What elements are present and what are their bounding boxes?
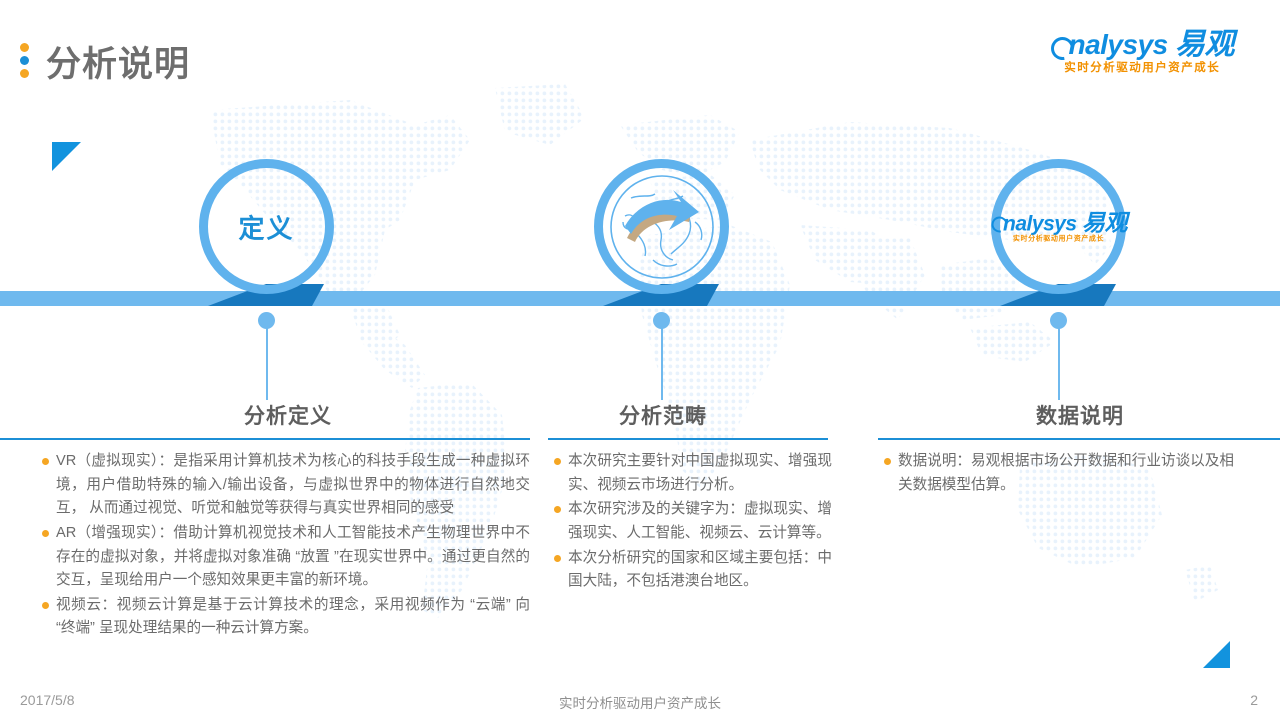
brand-tagline-inner: 实时分析驱动用户资产成长 [990,235,1127,242]
brand-name-cn-inner: 易观 [1082,209,1127,235]
node-connector-line-2 [661,328,663,400]
page-title: 分析说明 [46,36,190,87]
node-connector-dot-3 [1050,312,1067,329]
node-connector-dot-2 [653,312,670,329]
footer-page-number: 2 [1250,692,1258,708]
list-item: 本次分析研究的国家和区域主要包括：中国大陆，不包括港澳台地区。 [552,547,832,594]
list-item: 本次研究主要针对中国虚拟现实、增强现实、视频云市场进行分析。 [552,450,832,497]
list-item: VR（虚拟现实）：是指采用计算机技术为核心的科技手段生成一种虚拟环境，用户借助特… [40,450,530,521]
triangle-decoration-bottom-right [1203,641,1230,668]
column-rule-2 [548,438,828,440]
globe-arrow-icon [603,168,721,286]
node-connector-line-1 [266,328,268,400]
column-heading-3: 数据说明 [878,400,1280,430]
list-item: 本次研究涉及的关键字为：虚拟现实、增强现实、人工智能、视频云、云计算等。 [552,498,832,545]
title-dots-decoration [20,43,29,82]
column-body-3: 数据说明：易观根据市场公开数据和行业访谈以及相关数据模型估算。 [882,450,1234,498]
brand-logo-wordmark: nalysys 易观 [1050,30,1234,60]
analysys-logo-icon: nalysys 易观 实时分析驱动用户资产成长 [990,211,1127,242]
logo-swoosh-icon-inner [990,215,1005,232]
node-circle-definition: 定义 [199,159,334,294]
slide-canvas: 分析说明 nalysys 易观 实时分析驱动用户资产成长 定义 [0,0,1280,720]
list-item: 数据说明：易观根据市场公开数据和行业访谈以及相关数据模型估算。 [882,450,1234,497]
column-rule-3 [878,438,1280,440]
node-connector-dot-1 [258,312,275,329]
column-body-2: 本次研究主要针对中国虚拟现实、增强现实、视频云市场进行分析。 本次研究涉及的关键… [552,450,832,595]
column-heading-1: 分析定义 [38,400,538,430]
node-circle-scope [594,159,729,294]
column-heading-2: 分析范畴 [548,400,778,430]
node-circle-data: nalysys 易观 实时分析驱动用户资产成长 [991,159,1126,294]
column-rule-1 [0,438,530,440]
triangle-decoration-top-left [52,142,81,171]
node-connector-line-3 [1058,328,1060,400]
footer-tagline: 实时分析驱动用户资产成长 [0,692,1280,712]
list-item: AR（增强现实）：借助计算机视觉技术和人工智能技术产生物理世界中不存在的虚拟对象… [40,522,530,593]
column-body-1: VR（虚拟现实）：是指采用计算机技术为核心的科技手段生成一种虚拟环境，用户借助特… [40,450,530,642]
node-label-definition: 定义 [208,208,325,245]
brand-name-en: nalysys [1068,29,1167,60]
brand-tagline: 实时分析驱动用户资产成长 [1050,63,1234,75]
logo-swoosh-icon [1050,35,1070,57]
brand-name-en-inner: nalysys [1003,212,1077,235]
brand-name-cn: 易观 [1175,28,1234,61]
brand-logo: nalysys 易观 实时分析驱动用户资产成长 [1050,30,1234,75]
list-item: 视频云：视频云计算是基于云计算技术的理念，采用视频作为 “云端” 向 “终端” … [40,594,530,641]
